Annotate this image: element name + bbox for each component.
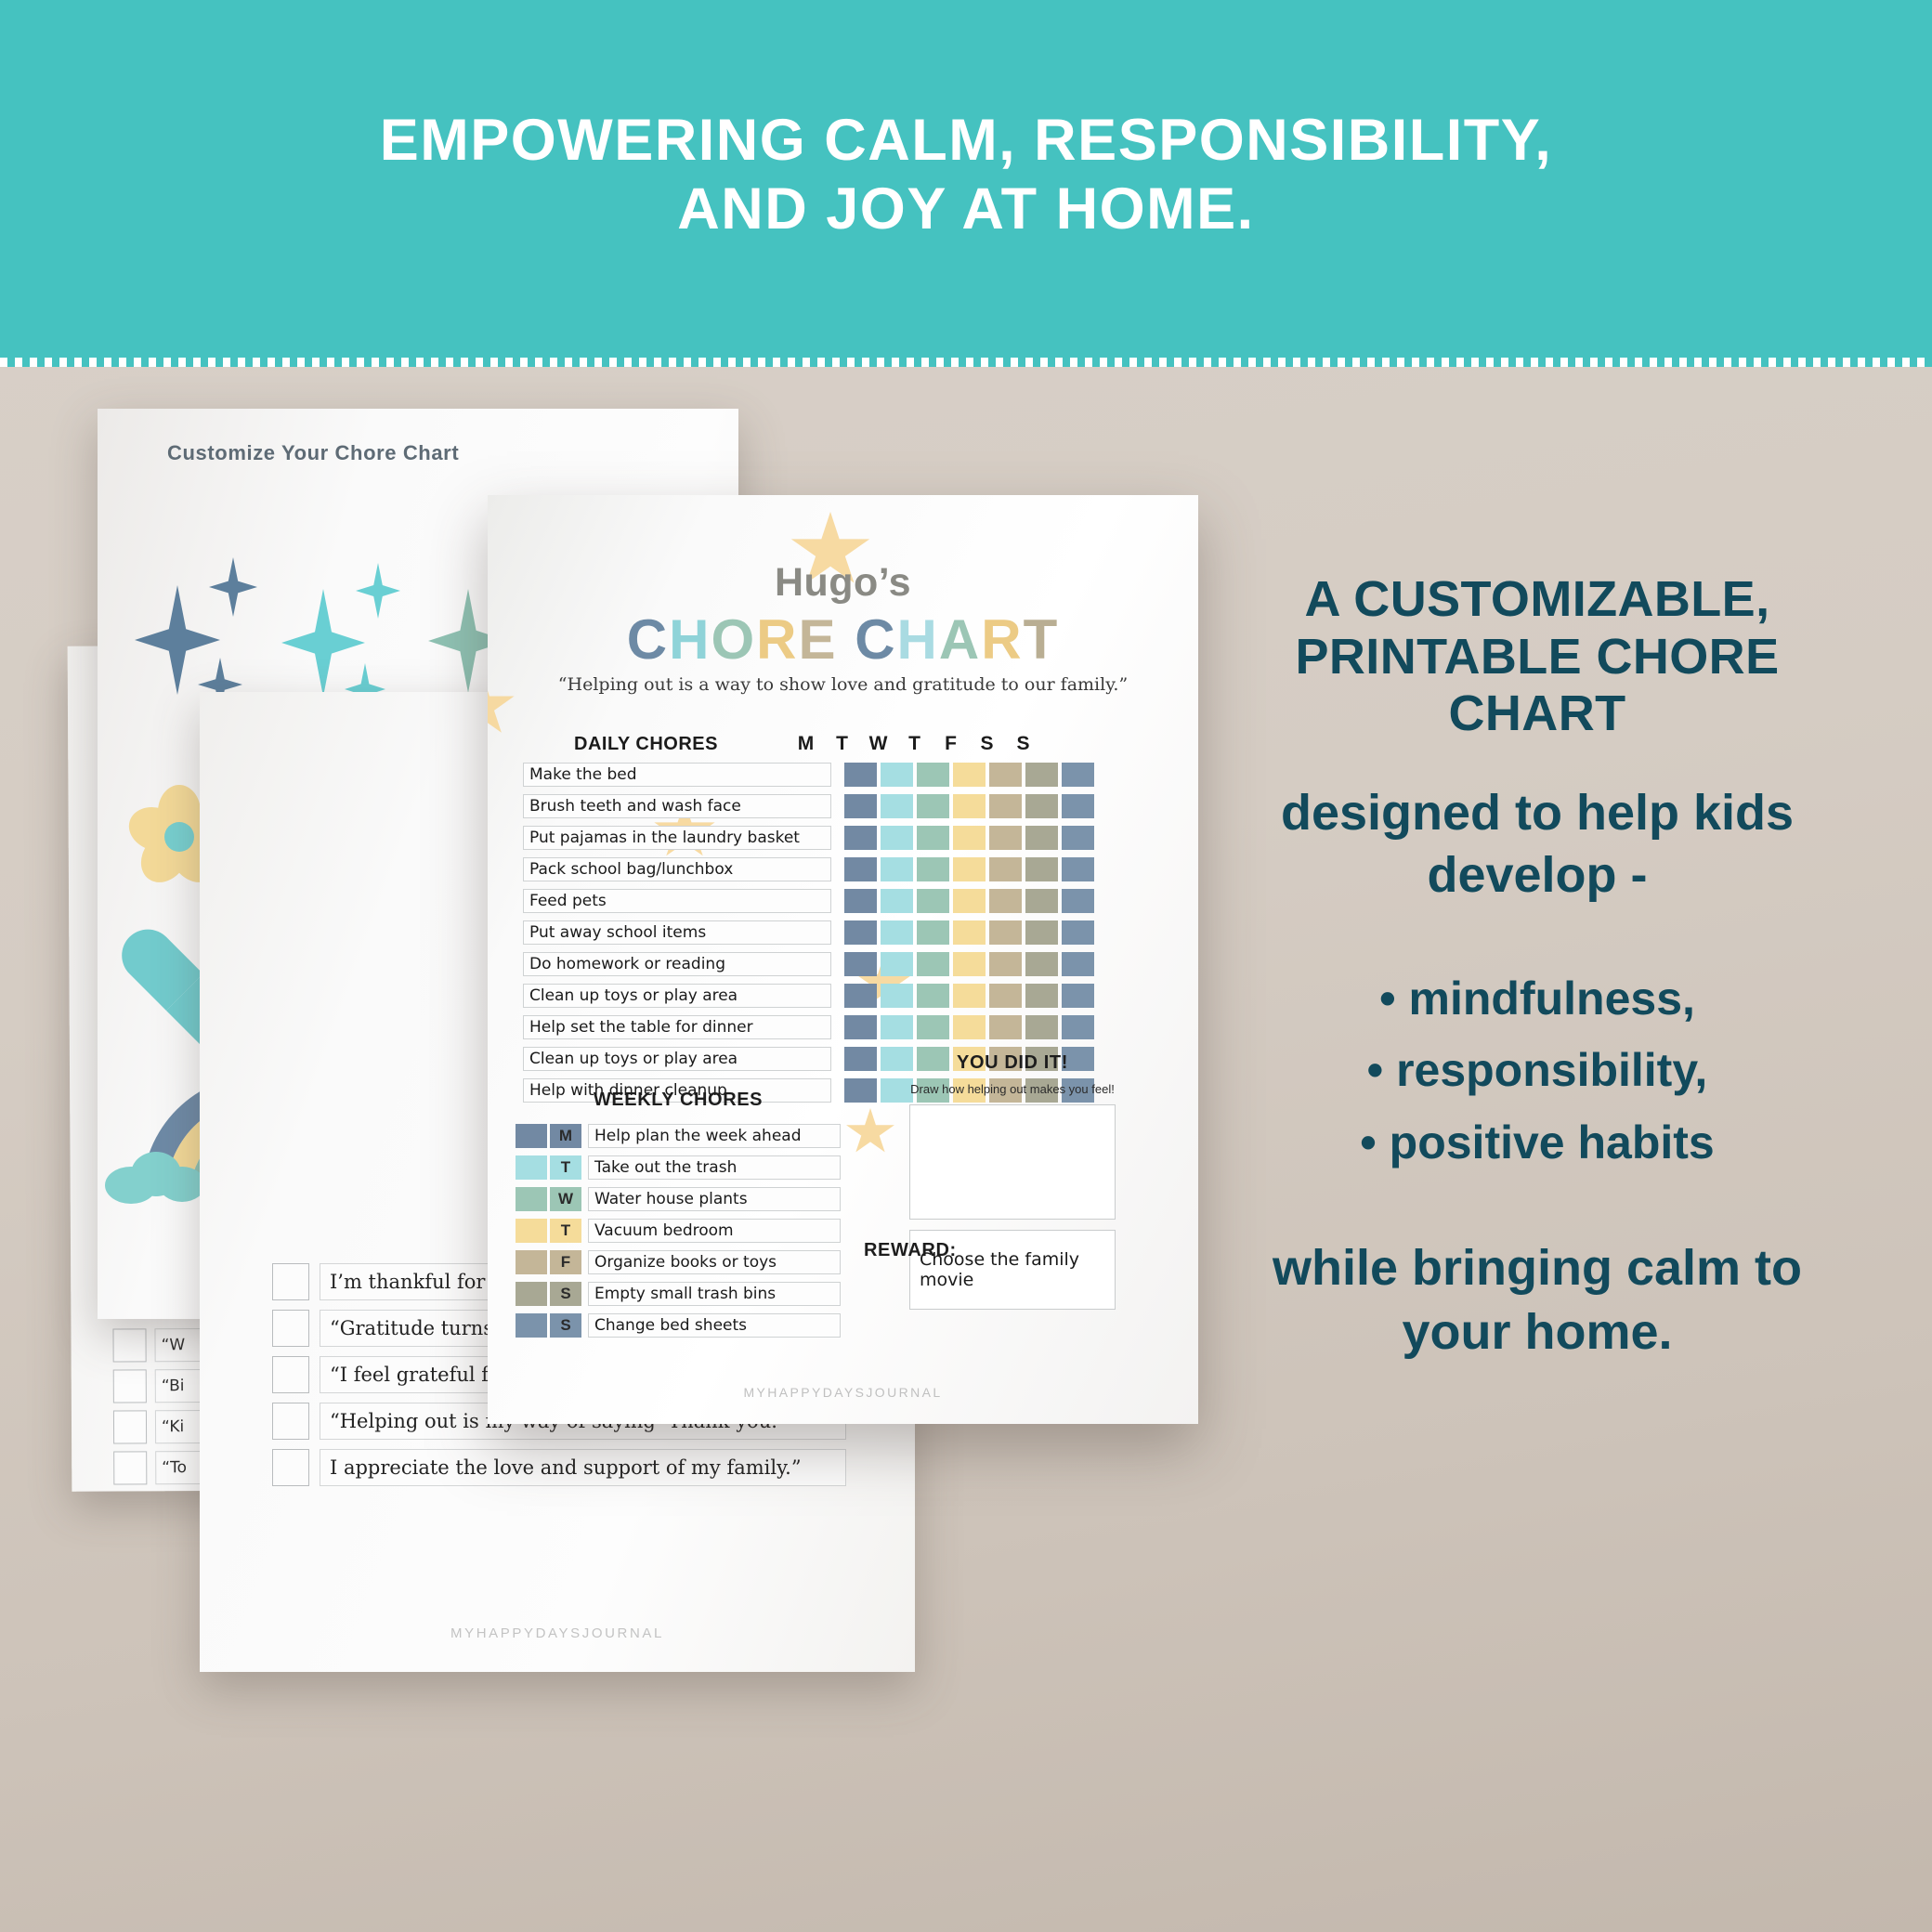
chore-day-cell[interactable]: [989, 920, 1022, 945]
cloud-icon: [105, 1150, 205, 1198]
checkbox[interactable]: [272, 1449, 309, 1486]
weekly-chore-input[interactable]: Water house plants: [588, 1187, 841, 1211]
chore-day-cell[interactable]: [1025, 920, 1058, 945]
daily-chores-label: DAILY CHORES: [523, 734, 769, 755]
chore-day-cell[interactable]: [1062, 1015, 1094, 1039]
chore-day-cell[interactable]: [1062, 763, 1094, 787]
table-row: Clean up toys or play area: [523, 984, 1164, 1008]
table-row: TTake out the trash: [516, 1155, 841, 1180]
you-did-it-instruction: Draw how helping out makes you feel!: [864, 1082, 1161, 1096]
daily-chore-input[interactable]: Clean up toys or play area: [523, 1047, 831, 1071]
chore-day-cell[interactable]: [844, 984, 877, 1008]
day-header-group: MTWTFSS: [790, 733, 1039, 755]
chore-day-cell[interactable]: [917, 857, 949, 881]
chore-day-cell[interactable]: [844, 857, 877, 881]
weekly-chore-input[interactable]: Organize books or toys: [588, 1250, 841, 1274]
chore-day-cell[interactable]: [1025, 952, 1058, 976]
checkbox[interactable]: [113, 1410, 147, 1443]
weekly-color-swatch: [516, 1282, 547, 1306]
chore-day-cell[interactable]: [917, 826, 949, 850]
header-title-line2: and joy at home.: [380, 175, 1553, 243]
chore-day-cell[interactable]: [881, 794, 913, 818]
chart-watermark: MYHAPPYDAYSJOURNAL: [488, 1385, 1198, 1400]
chart-title: CHORE CHART: [488, 607, 1198, 672]
customize-sheet-title: Customize Your Chore Chart: [167, 441, 459, 465]
weekly-day-label: T: [550, 1219, 581, 1243]
header-dashed-divider: [0, 358, 1932, 367]
weekly-color-swatch: [516, 1155, 547, 1180]
chore-day-cell[interactable]: [989, 763, 1022, 787]
chore-day-cell[interactable]: [1025, 763, 1058, 787]
chore-day-cell[interactable]: [844, 952, 877, 976]
checkbox[interactable]: [272, 1310, 309, 1347]
daily-chores-section: DAILY CHORES MTWTFSS Make the bedBrush t…: [523, 727, 1164, 1103]
table-row: TVacuum bedroom: [516, 1219, 841, 1243]
day-header: M: [790, 733, 822, 755]
table-row: Pack school bag/lunchbox: [523, 857, 1164, 881]
daily-chore-cells: [844, 920, 1094, 945]
table-row: MHelp plan the week ahead: [516, 1124, 841, 1148]
table-row: SChange bed sheets: [516, 1313, 841, 1338]
chart-title-letter: R: [756, 607, 798, 672]
chore-day-cell[interactable]: [1062, 984, 1094, 1008]
chore-day-cell[interactable]: [953, 794, 986, 818]
copy-headline: A CUSTOMIZABLE, PRINTABLE CHORE CHART: [1212, 571, 1862, 743]
chore-day-cell[interactable]: [881, 1015, 913, 1039]
weekly-day-label: F: [550, 1250, 581, 1274]
daily-chores-header-row: DAILY CHORES MTWTFSS: [523, 727, 1164, 755]
weekly-day-label: T: [550, 1155, 581, 1180]
chart-title-letter: [838, 607, 855, 672]
table-row: Make the bed: [523, 763, 1164, 787]
daily-chore-input[interactable]: Clean up toys or play area: [523, 984, 831, 1008]
chart-title-letter: E: [798, 607, 837, 672]
chore-day-cell[interactable]: [917, 794, 949, 818]
chore-day-cell[interactable]: [989, 826, 1022, 850]
you-did-it-section: YOU DID IT! Draw how helping out makes y…: [864, 1052, 1161, 1310]
table-row: SEmpty small trash bins: [516, 1282, 841, 1306]
weekly-chore-input[interactable]: Empty small trash bins: [588, 1282, 841, 1306]
chart-title-letter: O: [711, 607, 756, 672]
chore-day-cell[interactable]: [844, 1015, 877, 1039]
chore-day-cell[interactable]: [953, 763, 986, 787]
chore-day-cell[interactable]: [1062, 889, 1094, 913]
checkbox[interactable]: [272, 1356, 309, 1393]
chore-day-cell[interactable]: [917, 952, 949, 976]
chart-title-letter: A: [939, 607, 981, 672]
checkbox[interactable]: [272, 1403, 309, 1440]
weekly-day-label: W: [550, 1187, 581, 1211]
chore-day-cell[interactable]: [917, 984, 949, 1008]
affirmation-text: I appreciate the love and support of my …: [320, 1449, 846, 1486]
copy-benefit-item: mindfulness,: [1212, 963, 1862, 1036]
chore-day-cell[interactable]: [989, 857, 1022, 881]
daily-chore-cells: [844, 857, 1094, 881]
chore-day-cell[interactable]: [953, 826, 986, 850]
affirmation-sheet-watermark: MYHAPPYDAYSJOURNAL: [200, 1625, 915, 1641]
table-row: FOrganize books or toys: [516, 1250, 841, 1274]
weekly-chore-input[interactable]: Change bed sheets: [588, 1313, 841, 1338]
copy-benefit-item: responsibility,: [1212, 1035, 1862, 1107]
sparkle-icon: [125, 557, 283, 706]
daily-chore-input[interactable]: Do homework or reading: [523, 952, 831, 976]
chore-day-cell[interactable]: [989, 984, 1022, 1008]
daily-chore-cells: [844, 794, 1094, 818]
weekly-color-swatch: [516, 1313, 547, 1338]
daily-chore-input[interactable]: Help set the table for dinner: [523, 1015, 831, 1039]
you-did-it-title: YOU DID IT!: [864, 1052, 1161, 1074]
copy-closing: while bringing calm to your home.: [1212, 1236, 1862, 1364]
daily-chore-input[interactable]: Make the bed: [523, 763, 831, 787]
chore-day-cell[interactable]: [953, 952, 986, 976]
chart-subtitle: “Helping out is a way to show love and g…: [488, 674, 1198, 695]
marketing-copy-panel: A CUSTOMIZABLE, PRINTABLE CHORE CHART de…: [1212, 571, 1862, 1364]
weekly-chore-input[interactable]: Help plan the week ahead: [588, 1124, 841, 1148]
checkbox[interactable]: [113, 1369, 147, 1403]
chore-day-cell[interactable]: [917, 1015, 949, 1039]
chore-day-cell[interactable]: [917, 920, 949, 945]
sparkle-icon: [274, 561, 432, 710]
chore-day-cell[interactable]: [1062, 857, 1094, 881]
header-banner: Empowering calm, responsibility, and joy…: [0, 0, 1932, 362]
daily-chore-input[interactable]: Feed pets: [523, 889, 831, 913]
chore-day-cell[interactable]: [1062, 920, 1094, 945]
chore-day-cell[interactable]: [989, 889, 1022, 913]
copy-subheadline: designed to help kids develop -: [1212, 782, 1862, 907]
weekly-color-swatch: [516, 1250, 547, 1274]
weekly-chore-input[interactable]: Take out the trash: [588, 1155, 841, 1180]
chore-day-cell[interactable]: [953, 1015, 986, 1039]
daily-chore-cells: [844, 952, 1094, 976]
chore-day-cell[interactable]: [844, 920, 877, 945]
chore-day-cell[interactable]: [844, 794, 877, 818]
table-row: Help set the table for dinner: [523, 1015, 1164, 1039]
table-row: WWater house plants: [516, 1187, 841, 1211]
chart-title-letter: T: [1024, 607, 1060, 672]
chore-day-cell[interactable]: [953, 889, 986, 913]
chore-day-cell[interactable]: [1025, 794, 1058, 818]
weekly-chores-section: WEEKLY CHORES MHelp plan the week aheadT…: [516, 1090, 841, 1345]
day-header: T: [898, 733, 931, 755]
chore-day-cell[interactable]: [881, 889, 913, 913]
daily-chore-input[interactable]: Put away school items: [523, 920, 831, 945]
chore-day-cell[interactable]: [1062, 952, 1094, 976]
day-header: T: [826, 733, 858, 755]
chore-day-cell[interactable]: [1025, 889, 1058, 913]
weekly-chore-input[interactable]: Vacuum bedroom: [588, 1219, 841, 1243]
day-header: S: [971, 733, 1003, 755]
sheet-chore-chart: Hugo’s CHORE CHART “Helping out is a way…: [488, 495, 1198, 1424]
header-title: Empowering calm, responsibility, and joy…: [380, 106, 1553, 257]
chart-title-letter: H: [897, 607, 939, 672]
chore-day-cell[interactable]: [953, 984, 986, 1008]
chore-day-cell[interactable]: [953, 857, 986, 881]
daily-chore-cells: [844, 763, 1094, 787]
weekly-day-label: S: [550, 1282, 581, 1306]
chore-day-cell[interactable]: [953, 920, 986, 945]
weekly-chores-rows: MHelp plan the week aheadTTake out the t…: [516, 1124, 841, 1338]
chore-day-cell[interactable]: [1025, 857, 1058, 881]
chore-day-cell[interactable]: [989, 1015, 1022, 1039]
list-item: I appreciate the love and support of my …: [272, 1449, 846, 1486]
chore-day-cell[interactable]: [881, 984, 913, 1008]
copy-benefit-item: positive habits: [1212, 1107, 1862, 1180]
weekly-color-swatch: [516, 1187, 547, 1211]
weekly-chores-label: WEEKLY CHORES: [516, 1090, 841, 1111]
header-title-line1: Empowering calm, responsibility,: [380, 108, 1553, 173]
daily-chore-input[interactable]: Put pajamas in the laundry basket: [523, 826, 831, 850]
weekly-color-swatch: [516, 1124, 547, 1148]
poster-canvas: Empowering calm, responsibility, and joy…: [0, 0, 1932, 1932]
chore-day-cell[interactable]: [844, 763, 877, 787]
chore-day-cell[interactable]: [881, 857, 913, 881]
daily-chore-cells: [844, 826, 1094, 850]
chore-day-cell[interactable]: [1025, 984, 1058, 1008]
table-row: Do homework or reading: [523, 952, 1164, 976]
chart-title-letter: C: [855, 607, 896, 672]
chart-owner-name: Hugo’s: [488, 560, 1198, 606]
chore-day-cell[interactable]: [844, 889, 877, 913]
chart-title-letter: R: [981, 607, 1023, 672]
copy-benefit-list: mindfulness,responsibility,positive habi…: [1212, 963, 1862, 1180]
day-header: S: [1007, 733, 1039, 755]
daily-chore-cells: [844, 984, 1094, 1008]
chore-day-cell[interactable]: [989, 952, 1022, 976]
daily-chore-input[interactable]: Brush teeth and wash face: [523, 794, 831, 818]
chart-title-letter: H: [669, 607, 711, 672]
chore-day-cell[interactable]: [881, 952, 913, 976]
day-header: F: [934, 733, 967, 755]
drawing-area[interactable]: [909, 1104, 1116, 1220]
day-header: W: [862, 733, 894, 755]
chore-day-cell[interactable]: [1025, 826, 1058, 850]
table-row: Put pajamas in the laundry basket: [523, 826, 1164, 850]
chore-day-cell[interactable]: [1062, 794, 1094, 818]
table-row: Brush teeth and wash face: [523, 794, 1164, 818]
reward-title: REWARD:: [864, 1240, 957, 1261]
chart-title-letter: C: [627, 607, 669, 672]
chore-day-cell[interactable]: [844, 826, 877, 850]
weekly-day-label: S: [550, 1313, 581, 1338]
checkbox[interactable]: [272, 1263, 309, 1300]
chore-day-cell[interactable]: [881, 763, 913, 787]
checkbox[interactable]: [112, 1328, 146, 1362]
chore-day-cell[interactable]: [989, 794, 1022, 818]
chore-day-cell[interactable]: [917, 763, 949, 787]
chore-day-cell[interactable]: [1025, 1015, 1058, 1039]
checkbox[interactable]: [113, 1451, 147, 1484]
daily-chore-cells: [844, 889, 1094, 913]
daily-chore-input[interactable]: Pack school bag/lunchbox: [523, 857, 831, 881]
table-row: Put away school items: [523, 920, 1164, 945]
chore-day-cell[interactable]: [1062, 826, 1094, 850]
daily-chore-cells: [844, 1015, 1094, 1039]
table-row: Feed pets: [523, 889, 1164, 913]
chore-day-cell[interactable]: [881, 920, 913, 945]
weekly-day-label: M: [550, 1124, 581, 1148]
chore-day-cell[interactable]: [881, 826, 913, 850]
chore-day-cell[interactable]: [917, 889, 949, 913]
weekly-color-swatch: [516, 1219, 547, 1243]
